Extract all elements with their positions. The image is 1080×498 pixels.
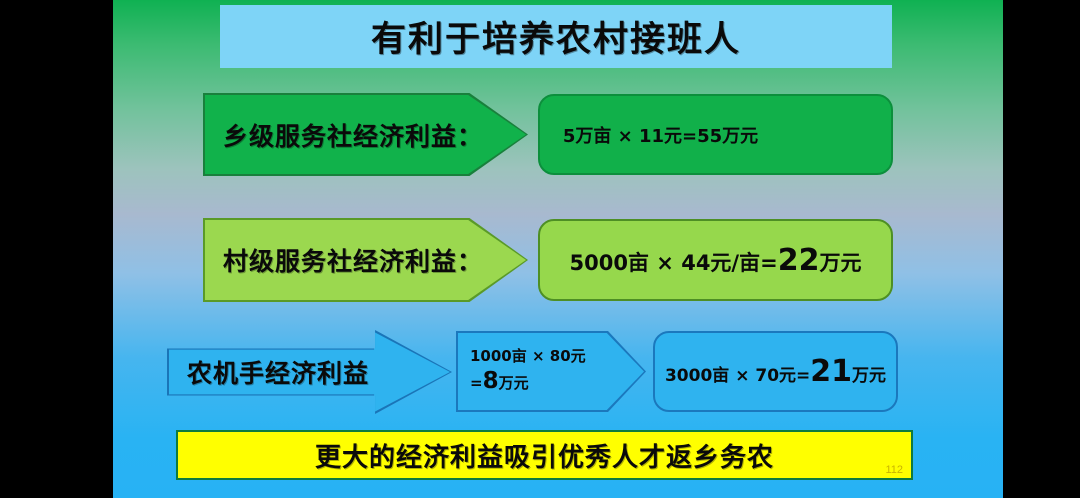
- row-3-mid-arrow: 1000亩 × 80元=8万元: [456, 331, 646, 412]
- row-2-value-box: 5000亩 × 44元/亩=22万元: [538, 219, 893, 301]
- slide-title-text: 有利于培养农村接班人: [371, 11, 741, 62]
- row-2-label-arrow-fill: 村级服务社经济利益：: [205, 220, 526, 300]
- row-3-value-prefix: 3000亩 × 70元=: [665, 366, 810, 386]
- bottom-banner-text: 更大的经济利益吸引优秀人才返乡务农: [315, 437, 774, 474]
- row-1-label-text: 乡级服务社经济利益：: [205, 117, 483, 153]
- slide-root: 有利于培养农村接班人 乡级服务社经济利益： 5万亩 × 11元=55万元 村级服…: [0, 0, 1080, 498]
- bottom-banner: 更大的经济利益吸引优秀人才返乡务农 112: [176, 430, 913, 480]
- row-3-label-arrow-fill: 农机手经济利益: [169, 332, 450, 412]
- row-1-value-text: 5万亩 × 11元=55万元: [563, 122, 868, 148]
- row-3-value-suffix: 万元: [852, 366, 886, 386]
- slide-canvas: 有利于培养农村接班人 乡级服务社经济利益： 5万亩 × 11元=55万元 村级服…: [113, 0, 1003, 498]
- row-3-value-big: 21: [810, 354, 852, 389]
- row-2-value-text: 5000亩 × 44元/亩=22万元: [570, 243, 862, 278]
- row-3-mid-suffix: 万元: [499, 374, 529, 392]
- row-2-label-arrow: 村级服务社经济利益：: [203, 218, 528, 302]
- letterbox-right: [1003, 0, 1080, 498]
- row-3-value-box: 3000亩 × 70元=21万元: [653, 331, 898, 412]
- row-1-value-box: 5万亩 × 11元=55万元: [538, 94, 893, 175]
- row-2-value-suffix: 万元: [819, 251, 861, 275]
- row-3-mid-text: 1000亩 × 80元=8万元: [458, 346, 586, 397]
- row-3-label-text: 农机手经济利益: [169, 354, 369, 390]
- row-2-value-big: 22: [778, 243, 820, 278]
- row-3-mid-arrow-fill: 1000亩 × 80元=8万元: [458, 333, 644, 410]
- letterbox-left: [0, 0, 113, 498]
- row-3-value-text: 3000亩 × 70元=21万元: [665, 354, 886, 389]
- row-2-value-prefix: 5000亩 × 44元/亩=: [570, 251, 778, 275]
- row-3-label-arrow: 农机手经济利益: [167, 330, 452, 414]
- row-1-label-arrow: 乡级服务社经济利益：: [203, 93, 528, 176]
- row-2-label-text: 村级服务社经济利益：: [205, 242, 483, 278]
- row-1-label-arrow-fill: 乡级服务社经济利益：: [205, 95, 526, 174]
- slide-title-box: 有利于培养农村接班人: [220, 5, 892, 68]
- page-number: 112: [885, 464, 903, 476]
- row-3-mid-big: 8: [483, 368, 499, 394]
